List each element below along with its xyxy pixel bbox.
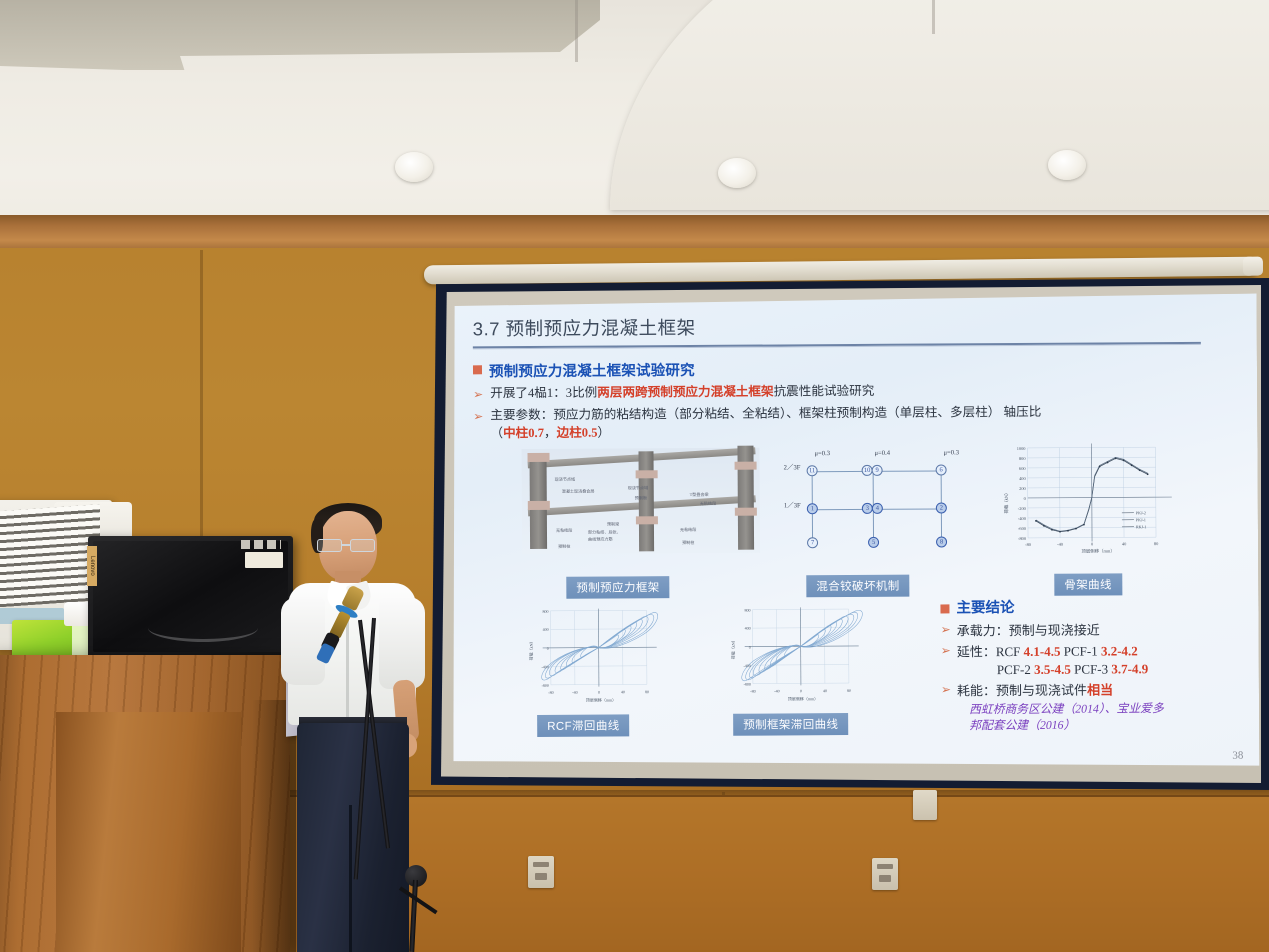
conclusion-3-label: 耗能：预制与现浇试件	[957, 682, 1087, 698]
frame-label: 预制板	[635, 495, 647, 501]
precast-frame-photo: 现浇节点域 现浇节点域 混凝土现浇叠合层 预制板 T型叠合梁 无粘结段 无粘结段…	[521, 447, 760, 553]
hybrid-hinge-diagram: 11 10 9 6 1 3 4 2 7 5 8 2／3F 1／3F μ=0.3	[783, 448, 959, 554]
ac-louvers	[0, 504, 100, 608]
svg-text:-80: -80	[750, 688, 755, 693]
presenter-trousers	[297, 723, 409, 952]
wall-outlet-icon	[528, 856, 554, 888]
rcf-ductility-value: 4.1-4.5	[1024, 643, 1061, 658]
svg-text:-400: -400	[1018, 516, 1027, 521]
frame-joint	[528, 452, 550, 461]
svg-text:0: 0	[1091, 541, 1094, 546]
pcf2-value: 3.5-4.5	[1034, 661, 1071, 676]
svg-text:0: 0	[749, 644, 751, 649]
paren-open: （	[490, 426, 503, 440]
svg-text:0: 0	[800, 688, 802, 693]
svg-text:80: 80	[847, 688, 851, 693]
conclusion-1-value: 预制与现浇接近	[1009, 622, 1100, 638]
slide-title: 3.7 预制预应力混凝土框架	[473, 311, 1245, 342]
svg-text:-40: -40	[1057, 541, 1064, 546]
svg-text:-400: -400	[541, 664, 548, 669]
bullet1-seg2: 两层两跨预制预应力混凝土框架	[597, 384, 773, 399]
pcf-hysteresis-chart: 8004000 -400-800 -80-400 4080 顶层侧移（mm） 荷…	[722, 600, 888, 709]
mid-column-ratio: 中柱0.7	[503, 426, 544, 440]
slide-page-number: 38	[1232, 750, 1243, 762]
frame-joint	[735, 507, 757, 515]
hinge-support: 8	[936, 536, 947, 547]
ceiling-dome	[610, 0, 1269, 210]
frame-label: T型叠合梁	[690, 492, 709, 498]
svg-text:40: 40	[823, 688, 827, 693]
paren-close: ）	[597, 425, 610, 439]
svg-text:荷载（kN）: 荷载（kN）	[730, 638, 736, 659]
svg-text:-600: -600	[1018, 526, 1027, 531]
pcf1-ductility-value: 3.2-4.2	[1101, 643, 1138, 658]
hinge-node: 11	[807, 465, 818, 476]
hinge-load-label: 2／3F	[784, 461, 801, 471]
bullet1-seg1: 开展了4榀1：3比例	[490, 386, 597, 401]
svg-text:PKJ-2: PKJ-2	[1136, 510, 1146, 515]
hinge-node: 2	[936, 502, 947, 513]
ceiling-seam	[932, 0, 935, 34]
citation-line-1: 西虹桥商务区公建（2014）、宝业爱多	[969, 700, 1259, 718]
hinge-node: 6	[936, 464, 947, 475]
svg-text:800: 800	[744, 607, 750, 612]
presenter-glasses	[315, 539, 379, 552]
hinge-node: 9	[872, 464, 883, 475]
svg-text:-400: -400	[743, 663, 750, 668]
pcf3-label: PCF-3	[1071, 661, 1112, 676]
monitor-icon-row	[241, 540, 281, 549]
svg-text:0: 0	[1024, 496, 1027, 501]
frame-label: 混凝土现浇叠合层	[562, 488, 595, 494]
frame-joint	[636, 516, 658, 524]
hinge-axial-label: μ=0.4	[874, 449, 890, 456]
ceiling-seam	[575, 0, 578, 62]
hinge-node: 1	[807, 503, 818, 514]
svg-text:-40: -40	[572, 689, 577, 694]
figure-pcf-hysteresis: 8004000 -400-800 -80-400 4080 顶层侧移（mm） 荷…	[722, 600, 888, 735]
lenovo-monitor: Lenovo	[88, 536, 293, 658]
hinge-support: 7	[807, 537, 818, 548]
figure-frame-photo: 现浇节点域 现浇节点域 混凝土现浇叠合层 预制板 T型叠合梁 无粘结段 无粘结段…	[521, 447, 760, 553]
square-bullet-icon	[473, 365, 482, 374]
title-divider	[473, 342, 1201, 349]
pcf2-label: PCF-2	[997, 662, 1034, 677]
arrow-bullet-icon: ➢	[473, 387, 483, 401]
frame-label: 无粘结段	[556, 527, 572, 533]
section-heading-row: 预制预应力混凝土框架试验研究	[473, 356, 1245, 382]
monitor-spec-sticker	[245, 552, 283, 568]
glasses-lens-left	[317, 539, 342, 552]
pcf3-value: 3.7-4.9	[1111, 661, 1148, 676]
citation-line-2: 邦配套公建（2016）	[969, 716, 1259, 734]
top-figure-row: 现浇节点域 现浇节点域 混凝土现浇叠合层 预制板 T型叠合梁 无粘结段 无粘结段…	[473, 444, 1246, 579]
svg-text:600: 600	[1019, 466, 1026, 471]
frame-label: 预制柱	[558, 543, 570, 549]
presentation-room-photo: 3.7 预制预应力混凝土框架 预制预应力混凝土框架试验研究 ➢ 开展了4榀1：3…	[0, 0, 1269, 952]
svg-text:-80: -80	[548, 689, 553, 694]
screen-roller-cap	[1243, 257, 1263, 276]
glasses-bridge	[342, 544, 350, 546]
bullet-text-1: 开展了4榀1：3比例两层两跨预制预应力混凝土框架抗震性能试验研究	[490, 383, 874, 403]
svg-text:荷载（kN）: 荷载（kN）	[1003, 490, 1010, 513]
conclusion-1-text: 承载力：预制与现浇接近	[957, 619, 1100, 639]
glasses-lens-right	[350, 539, 375, 552]
frame-label: 部分粘结、后张、	[588, 529, 621, 535]
svg-text:800: 800	[542, 608, 548, 613]
bullet-row-2: ➢ 主要参数：预应力筋的粘结构造（部分粘结、全粘结）、框架柱预制构造（单层柱、多…	[473, 402, 1245, 442]
bullet1-seg3: 抗震性能试验研究	[774, 384, 875, 399]
rcf-hysteresis-chart: 8004000 -400-800 -80-400 4080 顶层侧移（mm） 荷…	[520, 602, 686, 711]
arrow-bullet-icon: ➢	[941, 682, 951, 696]
svg-text:200: 200	[1019, 486, 1026, 491]
figure-skeleton-curve: 1000800600 4002000 -200-400-600 -800 -80…	[993, 440, 1204, 553]
conclusion-2-line2: PCF-2 3.5-4.5 PCF-3 3.7-4.9	[997, 660, 1260, 678]
frame-joint	[735, 461, 757, 469]
conclusion-2-text: 延性：RCF 4.1-4.5 PCF-1 3.2-4.2	[957, 640, 1138, 660]
skeleton-curve-chart: 1000800600 4002000 -200-400-600 -800 -80…	[993, 440, 1204, 553]
svg-text:1000: 1000	[1017, 446, 1027, 451]
frame-label: 预制梁	[607, 521, 619, 527]
conclusion-1-label: 承载力：	[957, 623, 1009, 638]
conclusion-2-label2: PCF-1	[1060, 643, 1101, 658]
arrow-bullet-icon: ➢	[941, 643, 951, 657]
svg-text:顶层侧移（mm）: 顶层侧移（mm）	[788, 695, 818, 701]
svg-text:-800: -800	[1018, 536, 1027, 541]
monitor-cable	[148, 614, 258, 642]
figure-rcf-hysteresis: 8004000 -400-800 -80-400 4080 顶层侧移（mm） 荷…	[520, 602, 686, 737]
conclusion-2-label: 延性：RCF	[957, 644, 1024, 659]
frame-joint	[528, 500, 550, 509]
conclusion-item-2: ➢ 延性：RCF 4.1-4.5 PCF-1 3.2-4.2	[941, 639, 1260, 660]
svg-text:RKJ-1: RKJ-1	[1136, 524, 1146, 529]
square-bullet-icon	[940, 605, 949, 614]
downlight-icon	[718, 158, 756, 188]
arrow-bullet-icon: ➢	[941, 622, 951, 636]
bullet-text-2: 主要参数：预应力筋的粘结构造（部分粘结、全粘结）、框架柱预制构造（单层柱、多层柱…	[490, 404, 1041, 425]
svg-text:800: 800	[1019, 456, 1026, 461]
presenter-sleeve-right	[379, 597, 425, 689]
wall-switch-plate	[913, 790, 937, 820]
hinge-support: 5	[868, 536, 879, 547]
svg-text:40: 40	[1122, 541, 1127, 546]
conclusions-heading-row: 主要结论	[940, 594, 1259, 617]
conclusions-block: 主要结论 ➢ 承载力：预制与现浇接近 ➢ 延性：RCF 4.1-4.5 PCF-…	[940, 594, 1259, 734]
svg-text:PKJ-1: PKJ-1	[1136, 517, 1146, 522]
svg-text:0: 0	[547, 645, 549, 650]
frame-label: 预制柱	[682, 540, 694, 546]
podium-front-panel	[56, 712, 241, 952]
svg-text:400: 400	[745, 625, 751, 630]
svg-text:-800: -800	[542, 682, 549, 687]
hinge-axial-label: μ=0.3	[943, 449, 959, 456]
svg-text:-80: -80	[1025, 542, 1032, 547]
lenovo-logo: Lenovo	[87, 546, 97, 586]
svg-text:0: 0	[598, 689, 600, 694]
svg-text:80: 80	[645, 689, 649, 694]
svg-text:400: 400	[1019, 476, 1026, 481]
comma: ，	[544, 426, 557, 440]
caption-skeleton-curve: 骨架曲线	[1054, 573, 1122, 595]
bullet-text-2-cont: （中柱0.7，边柱0.5）	[490, 422, 1041, 443]
svg-text:顶层侧移（mm）: 顶层侧移（mm）	[1081, 547, 1114, 554]
bottom-row: 8004000 -400-800 -80-400 4080 顶层侧移（mm） 荷…	[474, 598, 1247, 753]
frame-label: 无粘结段	[700, 500, 716, 506]
svg-text:40: 40	[621, 689, 625, 694]
caption-rcf-hysteresis: RCF滞回曲线	[537, 714, 630, 737]
svg-text:-40: -40	[774, 688, 779, 693]
svg-text:顶层侧移（mm）: 顶层侧移（mm）	[586, 696, 616, 702]
conclusion-3-text: 耗能：预制与现浇试件相当	[957, 679, 1113, 699]
hinge-axial-label: μ=0.3	[814, 450, 830, 457]
frame-label: 现浇节点域	[628, 485, 649, 491]
frame-label: 曲线预应力筋	[588, 536, 613, 542]
projected-slide: 3.7 预制预应力混凝土框架 预制预应力混凝土框架试验研究 ➢ 开展了4榀1：3…	[451, 294, 1260, 773]
hinge-load-label: 1／3F	[784, 499, 801, 509]
bullet-row-1: ➢ 开展了4榀1：3比例两层两跨预制预应力混凝土框架抗震性能试验研究	[473, 381, 1245, 404]
conclusion-item-3: ➢ 耗能：预制与现浇试件相当	[941, 678, 1260, 699]
downlight-icon	[1048, 150, 1086, 180]
presenter-sleeve-left	[281, 597, 325, 685]
edge-column-ratio: 边柱0.5	[557, 425, 598, 439]
wall-outlet-icon	[872, 858, 898, 890]
frame-label: 现浇节点域	[555, 476, 576, 482]
svg-text:荷载（kN）: 荷载（kN）	[528, 639, 534, 660]
figure-hinge-mechanism: 11 10 9 6 1 3 4 2 7 5 8 2／3F 1／3F μ=0.3	[783, 448, 959, 554]
downlight-icon	[395, 152, 433, 182]
svg-text:-800: -800	[744, 681, 751, 686]
caption-pcf-hysteresis: 预制框架滞回曲线	[733, 713, 848, 736]
arrow-bullet-icon: ➢	[473, 409, 483, 423]
caption-precast-frame: 预制预应力框架	[566, 576, 669, 599]
svg-text:80: 80	[1154, 541, 1159, 546]
section-heading: 预制预应力混凝土框架试验研究	[489, 359, 695, 381]
svg-text:-200: -200	[1018, 506, 1027, 511]
conclusion-item-1: ➢ 承载力：预制与现浇接近	[941, 618, 1260, 639]
frame-joint	[636, 470, 658, 478]
svg-text:400: 400	[543, 626, 549, 631]
hinge-node: 4	[872, 502, 883, 513]
caption-hinge-mechanism: 混合铰破坏机制	[806, 574, 909, 597]
conclusion-3-value: 相当	[1087, 682, 1113, 697]
presenter-trouser-seam	[349, 805, 352, 952]
frame-label: 无粘结段	[680, 527, 696, 533]
conclusions-title: 主要结论	[956, 596, 1014, 617]
